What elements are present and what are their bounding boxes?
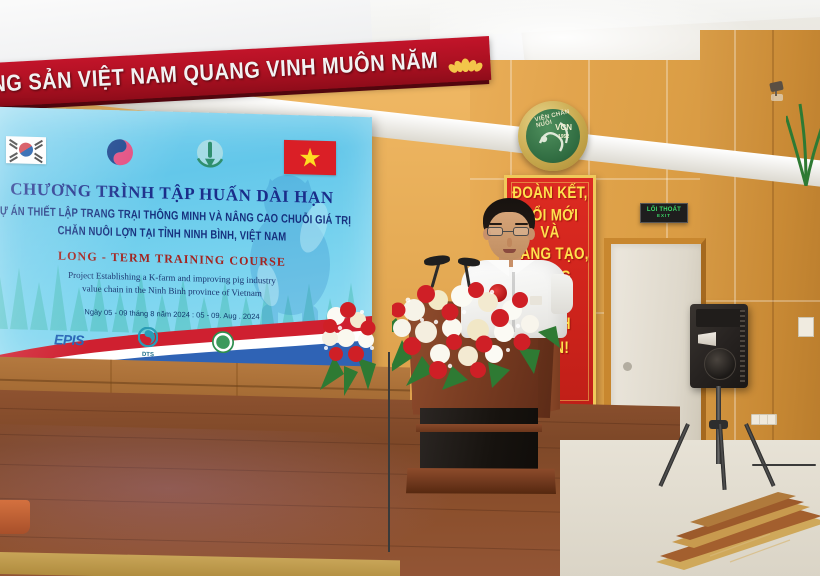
floor-cable (388, 352, 390, 552)
dts-logo: DTS (138, 326, 158, 358)
korea-government-taegeuk-emblem (105, 137, 135, 168)
flower-pot (0, 500, 30, 534)
exit-sign: LỐI THOÁT EXIT (640, 203, 688, 223)
emblem-center-text: VCN 1952 (555, 124, 572, 140)
podium-base (406, 468, 556, 494)
star-icon: ★ (298, 157, 321, 158)
side-flower-arrangement (306, 286, 386, 396)
door-knob[interactable] (623, 362, 632, 371)
light-switch-plate[interactable] (798, 317, 814, 337)
podium-dark-panel (420, 408, 538, 470)
security-camera (770, 82, 786, 100)
partner-green-emblem (195, 138, 225, 171)
epis-logo: EPIS (54, 331, 84, 348)
south-korea-flag (6, 136, 46, 164)
lotus-icon (447, 45, 482, 73)
stage-steps (650, 470, 820, 570)
wall-power-outlet (751, 414, 777, 425)
exit-sign-en: EXIT (657, 213, 671, 219)
conference-hall-photo: G CỘNG SẢN VIỆT NAM QUANG VINH MUÔN NĂM (0, 0, 820, 576)
vietnam-flag: ★ (284, 140, 336, 175)
podium-trim-band (416, 424, 542, 432)
corner-plant (786, 96, 820, 186)
flag-row: ★ (6, 129, 336, 178)
eyeglasses (487, 227, 531, 237)
vcn-institute-emblem: VCN 1952 VIỆN CHĂN NUÔI (518, 101, 588, 171)
partner-logo-row: EPIS DTS (54, 322, 234, 361)
institute-logo (212, 330, 234, 358)
podium-flower-arrangement (392, 270, 562, 390)
speaker-cable (752, 464, 816, 466)
pa-loudspeaker (690, 304, 748, 388)
